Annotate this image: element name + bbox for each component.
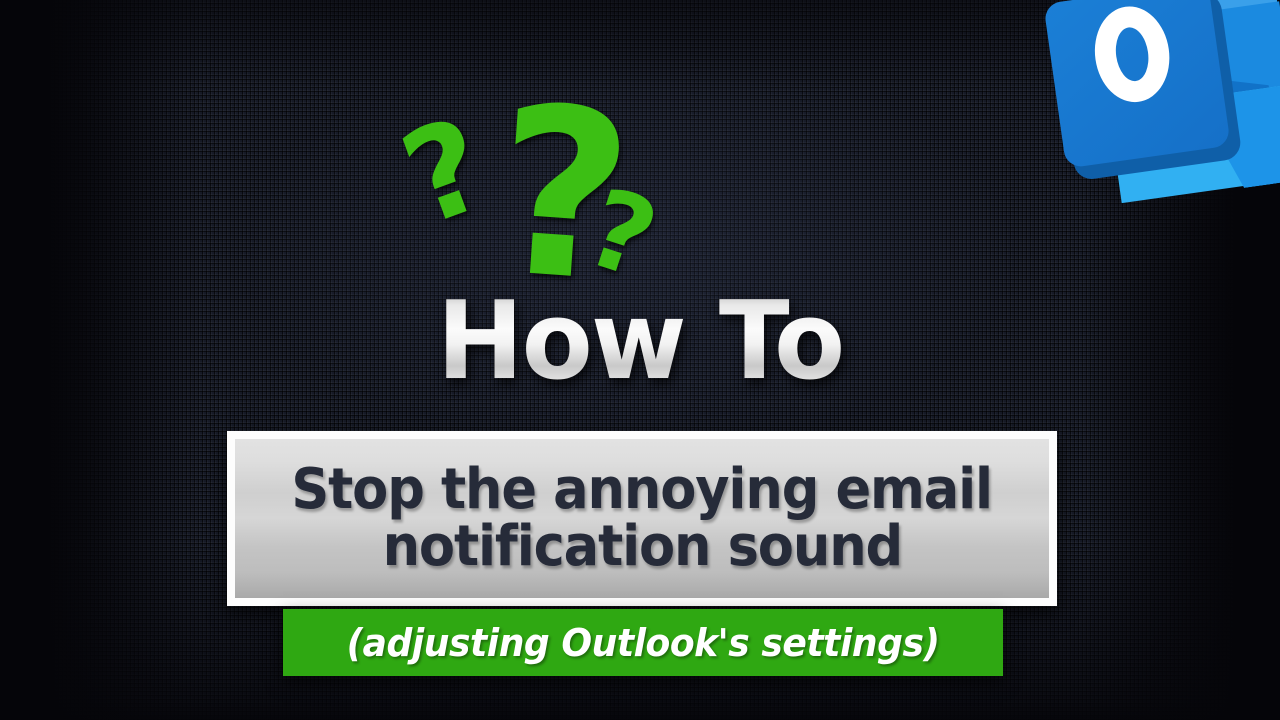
title-line-1: Stop the annoying email [292,463,993,518]
thumbnail-canvas: ? ? ? How To Stop the annoying email not… [0,0,1280,720]
outlook-o-letter-icon [1089,2,1176,107]
title-card: Stop the annoying email notification sou… [227,431,1057,606]
title-card-plate: Stop the annoying email notification sou… [235,439,1049,598]
title-line-2: notification sound [382,520,902,575]
page-heading: How To [26,288,1255,396]
question-mark-icon-small-left: ? [388,100,502,246]
question-marks-graphic: ? ? ? [400,95,700,300]
subtitle-text: (adjusting Outlook's settings) [347,621,940,665]
outlook-logo [1029,0,1280,208]
subtitle-bar: (adjusting Outlook's settings) [283,609,1003,676]
outlook-square [1043,0,1230,169]
